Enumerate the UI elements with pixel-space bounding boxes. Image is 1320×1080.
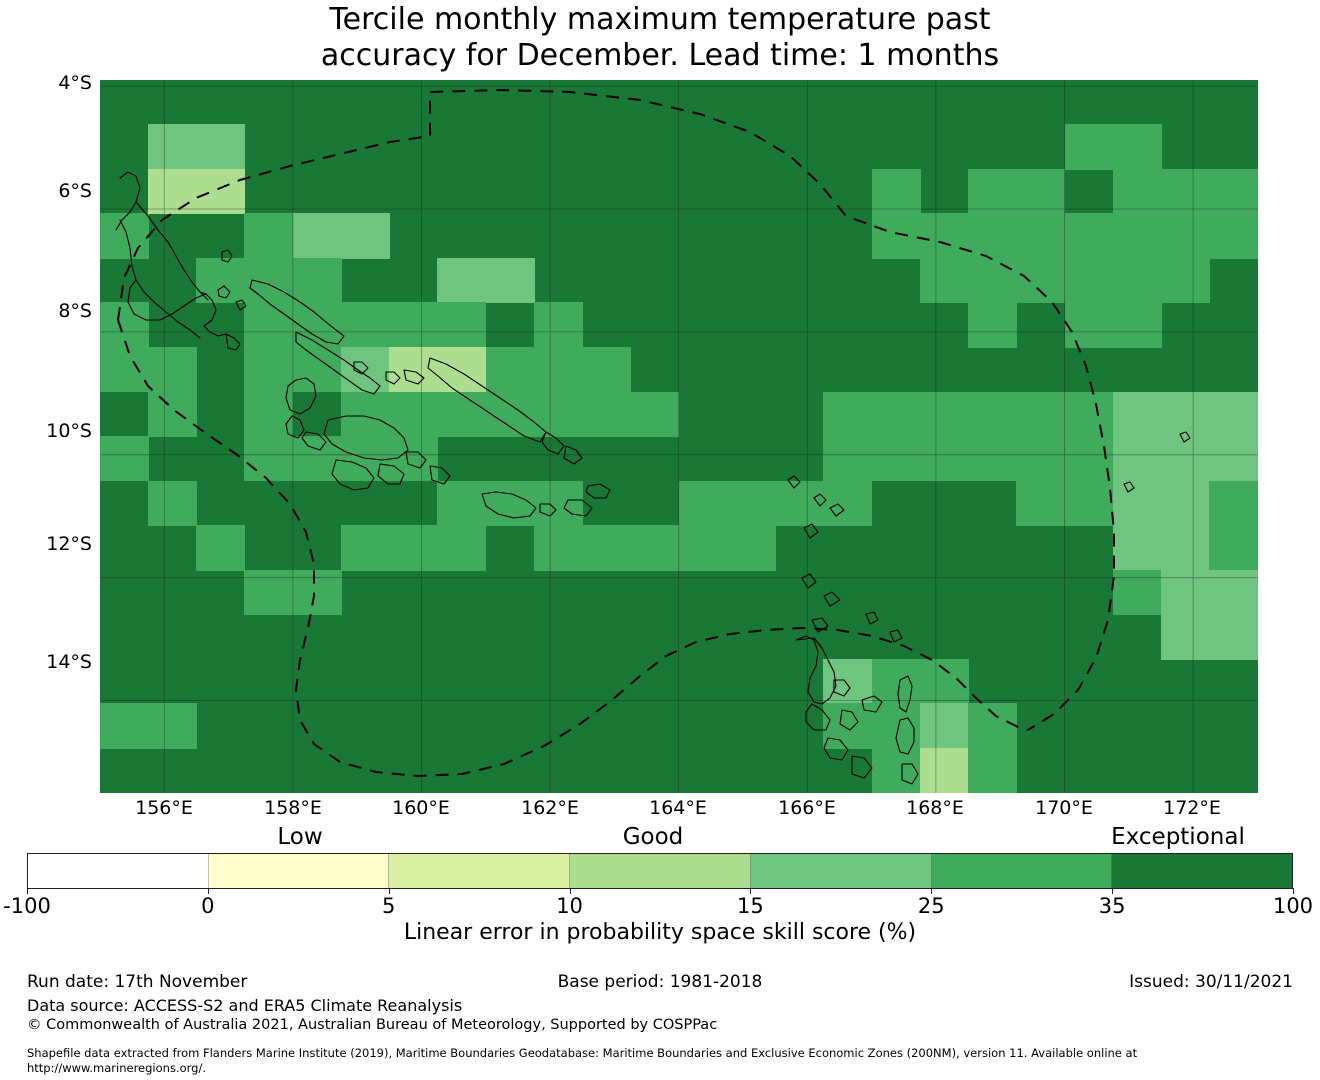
colorbar-tick-label-0: -100 (0, 894, 87, 918)
colorbar-swatch-0[interactable] (28, 854, 208, 888)
colorbar-tick-label-5: 25 (871, 894, 991, 918)
colorbar-tick-label-6: 35 (1052, 894, 1172, 918)
colorbar-tick-label-3: 10 (510, 894, 630, 918)
colorbar-swatch-3[interactable] (569, 854, 750, 888)
quality-label-exceptional: Exceptional (1028, 824, 1320, 850)
figure-root: Tercile monthly maximum temperature past… (0, 0, 1320, 1080)
figure-footer: Run date: 17th November Base period: 198… (0, 972, 1320, 1080)
y-tick-0: 4°S (0, 72, 92, 94)
footer-data-source: Data source: ACCESS-S2 and ERA5 Climate … (27, 996, 462, 1015)
x-tick-7: 170°E (1004, 797, 1124, 819)
quality-label-good: Good (503, 824, 803, 850)
footer-base-period: Base period: 1981-2018 (0, 972, 1320, 992)
x-tick-6: 168°E (875, 797, 995, 819)
footer-copyright: © Commonwealth of Australia 2021, Austra… (27, 1017, 717, 1033)
colorbar-swatch-2[interactable] (388, 854, 569, 888)
title-line-2: accuracy for December. Lead time: 1 mont… (0, 38, 1320, 74)
x-tick-4: 164°E (618, 797, 738, 819)
colorbar-swatch-6[interactable] (1111, 854, 1292, 888)
colorbar-tick-label-7: 100 (1233, 894, 1320, 918)
x-tick-1: 158°E (233, 797, 353, 819)
title-line-1: Tercile monthly maximum temperature past (0, 2, 1320, 38)
x-tick-3: 162°E (490, 797, 610, 819)
colorbar-tick-row: -1000510152535100 (0, 890, 1320, 918)
x-tick-0: 156°E (104, 797, 224, 819)
page-title: Tercile monthly maximum temperature past… (0, 2, 1320, 74)
eez-boundary-dashed-line (100, 80, 1258, 793)
colorbar-swatch-4[interactable] (750, 854, 931, 888)
footer-top-row: Run date: 17th November Base period: 198… (0, 972, 1320, 996)
y-tick-1: 6°S (0, 180, 92, 202)
x-tick-8: 172°E (1132, 797, 1252, 819)
colorbar-swatches[interactable] (27, 853, 1293, 889)
colorbar-legend[interactable]: Low Good Exceptional -1000510152535100 L… (0, 824, 1320, 949)
x-tick-2: 160°E (361, 797, 481, 819)
colorbar-tick-label-4: 15 (690, 894, 810, 918)
quality-label-low: Low (150, 824, 450, 850)
colorbar-tick-label-2: 5 (329, 894, 449, 918)
y-tick-4: 12°S (0, 533, 92, 555)
footer-shapefile-attribution: Shapefile data extracted from Flanders M… (27, 1046, 1297, 1076)
y-tick-5: 14°S (0, 651, 92, 673)
footer-issued-date: Issued: 30/11/2021 (1129, 972, 1293, 992)
colorbar-tick-label-1: 0 (148, 894, 268, 918)
map-plot-area[interactable] (100, 80, 1258, 793)
colorbar-swatch-5[interactable] (931, 854, 1112, 888)
colorbar-swatch-1[interactable] (208, 854, 389, 888)
y-tick-2: 8°S (0, 300, 92, 322)
x-tick-5: 166°E (747, 797, 867, 819)
y-tick-3: 10°S (0, 420, 92, 442)
quality-labels-row: Low Good Exceptional (0, 824, 1320, 850)
colorbar-axis-label: Linear error in probability space skill … (0, 920, 1320, 945)
